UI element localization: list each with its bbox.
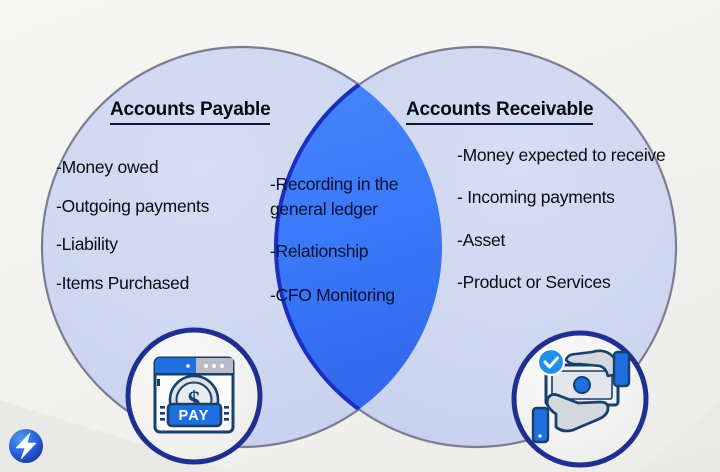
svg-text:PAY: PAY — [178, 408, 209, 424]
list-item: -Asset — [457, 228, 672, 253]
list-item: -Recording in the general ledger — [270, 172, 455, 223]
venn-list-left: -Money owed -Outgoing payments -Liabilit… — [56, 159, 266, 313]
pay-window-icon: $ PAY — [128, 330, 260, 462]
venn-list-overlap: -Recording in the general ledger -Relati… — [270, 172, 455, 328]
venn-title-right-text: Accounts Receivable — [406, 100, 593, 125]
diagram-canvas: $ PAY — [0, 0, 720, 472]
list-item: -Liability — [56, 236, 266, 254]
list-item: - Incoming payments — [457, 185, 672, 210]
venn-title-left-text: Accounts Payable — [110, 100, 270, 125]
venn-title-left: Accounts Payable — [110, 99, 270, 125]
list-item: -Outgoing payments — [56, 198, 266, 216]
list-item: -Items Purchased — [56, 275, 266, 293]
money-handover-icon — [514, 333, 646, 465]
list-item: -CFO Monitoring — [270, 283, 455, 308]
venn-title-right: Accounts Receivable — [406, 99, 593, 125]
list-item: -Money owed — [56, 159, 266, 177]
list-item: -Relationship — [270, 239, 455, 264]
list-item: -Product or Services — [457, 270, 672, 295]
list-item: -Money expected to receive — [457, 143, 672, 168]
venn-list-right: -Money expected to receive - Incoming pa… — [457, 143, 672, 313]
lightning-circle-logo[interactable] — [9, 429, 43, 463]
